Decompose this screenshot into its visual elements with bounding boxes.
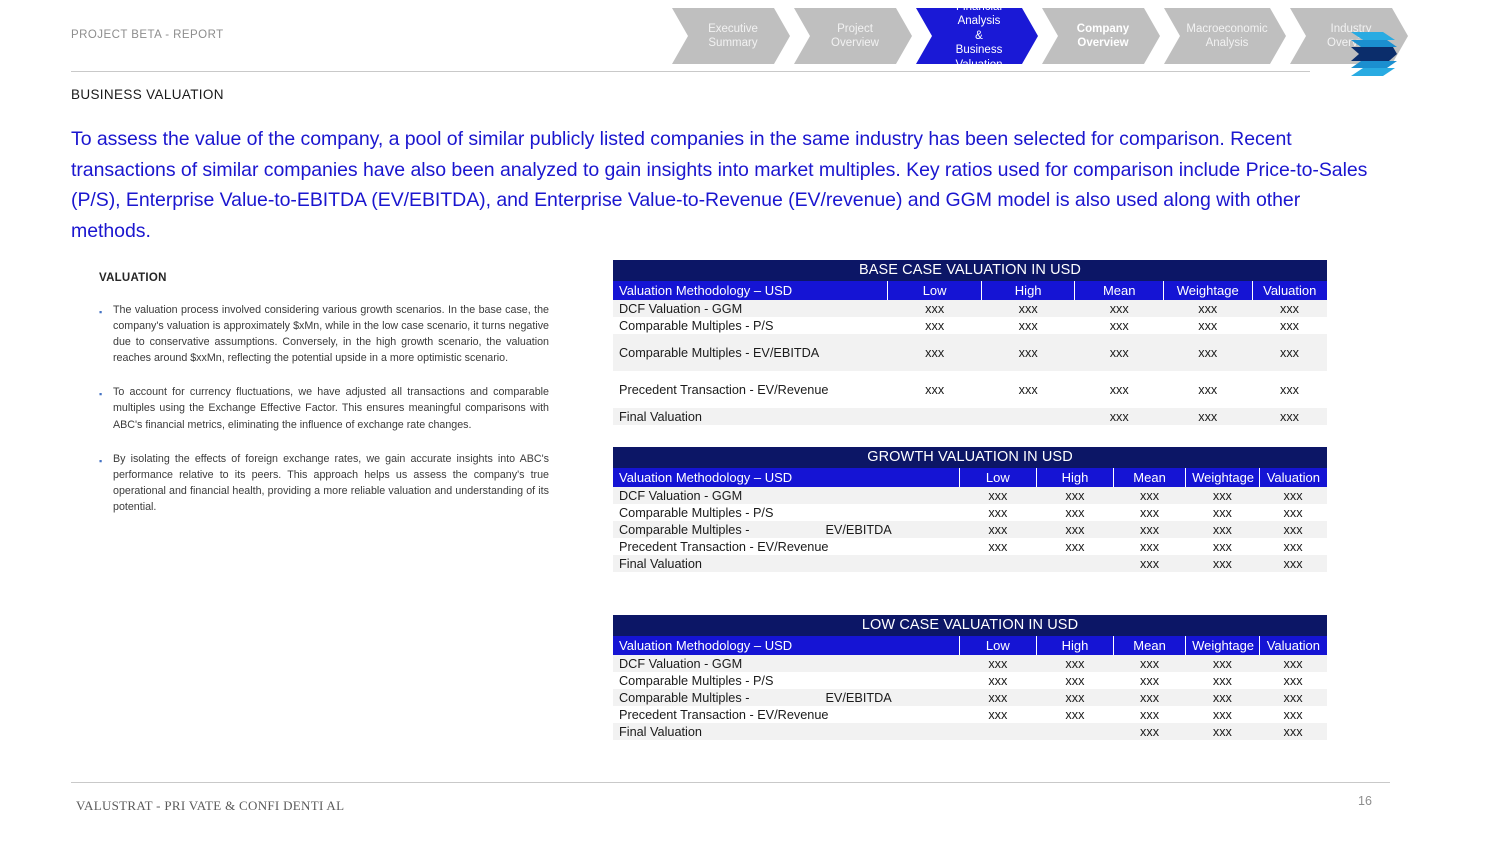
- cell-value-2: xxx: [1114, 706, 1186, 723]
- cell-value-4: xxx: [1259, 672, 1327, 689]
- cell-value-0: xxx: [959, 521, 1036, 538]
- column-header-2: High: [1036, 468, 1113, 487]
- bullet-text: To account for currency fluctuations, we…: [113, 384, 549, 432]
- cell-method: Final Valuation: [613, 723, 959, 740]
- nav-chevron-label: Company Overview: [1077, 22, 1129, 51]
- header-divider: [71, 71, 1310, 72]
- table-row: Comparable Multiples - P/Sxxxxxxxxxxxxxx…: [613, 317, 1327, 334]
- cell-value-2: xxx: [1114, 672, 1186, 689]
- cell-value-1: xxx: [1036, 689, 1113, 706]
- cell-value-3: xxx: [1163, 317, 1252, 334]
- nav-chevron-2[interactable]: Financial Analysis & Business Valuation: [916, 8, 1038, 64]
- table-title: LOW CASE VALUATION IN USD: [613, 615, 1327, 636]
- column-header-5: Valuation: [1259, 468, 1327, 487]
- nav-chevron-0[interactable]: Executive Summary: [672, 8, 790, 64]
- bullet-dot-icon: ▪: [99, 384, 113, 432]
- cell-value-2: xxx: [1114, 504, 1186, 521]
- cell-value-2: xxx: [1114, 521, 1186, 538]
- cell-value-0: xxx: [959, 487, 1036, 504]
- cell-method: Comparable Multiples - P/S: [613, 672, 959, 689]
- cell-value-1: xxx: [1036, 672, 1113, 689]
- cell-value-2: xxx: [1114, 689, 1186, 706]
- column-header-1: Low: [959, 636, 1036, 655]
- page-title: BUSINESS VALUATION: [71, 87, 224, 102]
- cell-value-0: [959, 723, 1036, 740]
- valuation-table-1: GROWTH VALUATION IN USDValuation Methodo…: [613, 447, 1327, 572]
- column-header-2: High: [981, 281, 1075, 300]
- table-row: Precedent Transaction - EV/Revenuexxxxxx…: [613, 371, 1327, 408]
- cell-value-4: xxx: [1259, 487, 1327, 504]
- table-row: DCF Valuation - GGMxxxxxxxxxxxxxxx: [613, 655, 1327, 672]
- cell-value-0: [959, 555, 1036, 572]
- cell-value-4: xxx: [1259, 521, 1327, 538]
- cell-method: Final Valuation: [613, 408, 888, 425]
- cell-value-3: xxx: [1163, 300, 1252, 317]
- cell-value-4: xxx: [1259, 689, 1327, 706]
- cell-value-3: xxx: [1186, 655, 1260, 672]
- column-header-0: Valuation Methodology – USD: [613, 636, 959, 655]
- table-title: BASE CASE VALUATION IN USD: [613, 260, 1327, 281]
- bullet-item: ▪To account for currency fluctuations, w…: [99, 384, 549, 432]
- nav-chevron-label: Executive Summary: [708, 22, 758, 51]
- column-header-1: Low: [888, 281, 982, 300]
- cell-value-4: xxx: [1252, 408, 1327, 425]
- table-row: Final Valuationxxxxxxxxx: [613, 555, 1327, 572]
- page-number: 16: [1358, 794, 1372, 808]
- cell-value-2: xxx: [1114, 655, 1186, 672]
- cell-value-4: xxx: [1259, 723, 1327, 740]
- method-label-part1: Comparable Multiples -: [619, 523, 749, 537]
- cell-value-3: xxx: [1186, 672, 1260, 689]
- cell-value-4: xxx: [1259, 555, 1327, 572]
- method-label-part2: EV/EBITDA: [825, 523, 891, 537]
- cell-value-4: xxx: [1252, 334, 1327, 371]
- cell-value-0: xxx: [959, 538, 1036, 555]
- column-header-0: Valuation Methodology – USD: [613, 281, 888, 300]
- cell-value-4: xxx: [1252, 371, 1327, 408]
- method-label-part1: Comparable Multiples -: [619, 691, 749, 705]
- cell-method: Comparable Multiples - P/S: [613, 504, 959, 521]
- bullet-text: By isolating the effects of foreign exch…: [113, 451, 549, 515]
- cell-method: DCF Valuation - GGM: [613, 300, 888, 317]
- cell-value-4: xxx: [1259, 706, 1327, 723]
- cell-value-1: xxx: [1036, 706, 1113, 723]
- column-header-4: Weightage: [1186, 636, 1260, 655]
- cell-value-0: xxx: [959, 655, 1036, 672]
- cell-value-2: xxx: [1075, 371, 1164, 408]
- cell-value-3: xxx: [1186, 504, 1260, 521]
- cell-value-3: xxx: [1186, 555, 1260, 572]
- cell-value-2: xxx: [1114, 538, 1186, 555]
- table-title: GROWTH VALUATION IN USD: [613, 447, 1327, 468]
- column-header-5: Valuation: [1259, 636, 1327, 655]
- cell-value-0: xxx: [888, 300, 982, 317]
- column-header-1: Low: [959, 468, 1036, 487]
- table-row: Final Valuationxxxxxxxxx: [613, 723, 1327, 740]
- cell-value-1: xxx: [1036, 504, 1113, 521]
- cell-value-0: xxx: [959, 706, 1036, 723]
- cell-method: Precedent Transaction - EV/Revenue: [613, 371, 888, 408]
- cell-value-1: [1036, 555, 1113, 572]
- cell-value-4: xxx: [1259, 538, 1327, 555]
- cell-value-2: xxx: [1075, 300, 1164, 317]
- nav-chevron-label: Financial Analysis & Business Valuation: [934, 0, 1024, 72]
- cell-value-2: xxx: [1114, 555, 1186, 572]
- slide-header: PROJECT BETA - REPORT BUSINESS VALUATION…: [0, 0, 1500, 110]
- table-row: Comparable Multiples - EV/EBITDAxxxxxxxx…: [613, 334, 1327, 371]
- bullet-list: ▪The valuation process involved consider…: [99, 302, 549, 515]
- valuation-commentary: VALUATION ▪The valuation process involve…: [99, 272, 549, 533]
- table-row: Precedent Transaction - EV/Revenuexxxxxx…: [613, 538, 1327, 555]
- cell-value-2: xxx: [1114, 487, 1186, 504]
- table: Valuation Methodology – USDLowHighMeanWe…: [613, 281, 1327, 425]
- cell-value-1: xxx: [1036, 521, 1113, 538]
- footer-divider: [71, 782, 1390, 783]
- column-header-3: Mean: [1114, 636, 1186, 655]
- column-header-4: Weightage: [1163, 281, 1252, 300]
- valuation-heading: VALUATION: [99, 272, 549, 284]
- valustrat-logo-icon: [1349, 30, 1399, 78]
- table-row: Precedent Transaction - EV/Revenuexxxxxx…: [613, 706, 1327, 723]
- cell-value-2: xxx: [1075, 334, 1164, 371]
- bullet-dot-icon: ▪: [99, 451, 113, 515]
- cell-method: Comparable Multiples - P/S: [613, 317, 888, 334]
- cell-value-1: [981, 408, 1075, 425]
- column-header-3: Mean: [1075, 281, 1164, 300]
- cell-value-3: xxx: [1186, 521, 1260, 538]
- cell-value-4: xxx: [1259, 504, 1327, 521]
- cell-value-3: xxx: [1186, 689, 1260, 706]
- cell-method: Comparable Multiples - EV/EBITDA: [613, 521, 959, 538]
- cell-value-3: xxx: [1186, 487, 1260, 504]
- table-header-row: Valuation Methodology – USDLowHighMeanWe…: [613, 468, 1327, 487]
- valuation-table-0: BASE CASE VALUATION IN USDValuation Meth…: [613, 260, 1327, 425]
- column-header-4: Weightage: [1186, 468, 1260, 487]
- cell-value-3: xxx: [1186, 706, 1260, 723]
- bullet-dot-icon: ▪: [99, 302, 113, 366]
- cell-value-0: xxx: [959, 689, 1036, 706]
- cell-value-1: xxx: [1036, 487, 1113, 504]
- cell-value-3: xxx: [1163, 334, 1252, 371]
- cell-method: DCF Valuation - GGM: [613, 655, 959, 672]
- column-header-3: Mean: [1114, 468, 1186, 487]
- cell-value-1: xxx: [1036, 538, 1113, 555]
- nav-chevron-1[interactable]: Project Overview: [794, 8, 912, 64]
- cell-value-1: xxx: [981, 300, 1075, 317]
- table-header-row: Valuation Methodology – USDLowHighMeanWe…: [613, 281, 1327, 300]
- cell-value-0: xxx: [888, 334, 982, 371]
- cell-value-1: [1036, 723, 1113, 740]
- document-kicker: PROJECT BETA - REPORT: [71, 29, 224, 41]
- cell-method: DCF Valuation - GGM: [613, 487, 959, 504]
- nav-chevron-3[interactable]: Company Overview: [1042, 8, 1160, 64]
- column-header-2: High: [1036, 636, 1113, 655]
- bullet-item: ▪The valuation process involved consider…: [99, 302, 549, 366]
- table-row: DCF Valuation - GGMxxxxxxxxxxxxxxx: [613, 487, 1327, 504]
- cell-value-2: xxx: [1075, 317, 1164, 334]
- cell-value-3: xxx: [1163, 371, 1252, 408]
- cell-value-3: xxx: [1186, 538, 1260, 555]
- cell-value-0: xxx: [959, 504, 1036, 521]
- table: Valuation Methodology – USDLowHighMeanWe…: [613, 468, 1327, 572]
- cell-method: Precedent Transaction - EV/Revenue: [613, 538, 959, 555]
- valuation-table-2: LOW CASE VALUATION IN USDValuation Metho…: [613, 615, 1327, 740]
- cell-method: Comparable Multiples - EV/EBITDA: [613, 689, 959, 706]
- cell-value-4: xxx: [1259, 655, 1327, 672]
- bullet-item: ▪By isolating the effects of foreign exc…: [99, 451, 549, 515]
- cell-value-2: xxx: [1075, 408, 1164, 425]
- table-header-row: Valuation Methodology – USDLowHighMeanWe…: [613, 636, 1327, 655]
- table: Valuation Methodology – USDLowHighMeanWe…: [613, 636, 1327, 740]
- table-row: Comparable Multiples - EV/EBITDAxxxxxxxx…: [613, 521, 1327, 538]
- cell-value-3: xxx: [1163, 408, 1252, 425]
- table-row: Comparable Multiples - EV/EBITDAxxxxxxxx…: [613, 689, 1327, 706]
- cell-value-4: xxx: [1252, 300, 1327, 317]
- cell-value-1: xxx: [981, 317, 1075, 334]
- nav-chevron-label: Macroeconomic Analysis: [1186, 22, 1267, 51]
- cell-value-0: xxx: [888, 371, 982, 408]
- section-chevron-nav: Executive SummaryProject OverviewFinanci…: [672, 8, 1412, 64]
- table-row: Comparable Multiples - P/Sxxxxxxxxxxxxxx…: [613, 672, 1327, 689]
- table-row: Final Valuationxxxxxxxxx: [613, 408, 1327, 425]
- column-header-0: Valuation Methodology – USD: [613, 468, 959, 487]
- cell-value-0: [888, 408, 982, 425]
- cell-value-1: xxx: [981, 371, 1075, 408]
- cell-value-0: xxx: [888, 317, 982, 334]
- nav-chevron-label: Project Overview: [831, 22, 879, 51]
- cell-value-0: xxx: [959, 672, 1036, 689]
- lead-paragraph: To assess the value of the company, a po…: [71, 124, 1371, 246]
- cell-method: Final Valuation: [613, 555, 959, 572]
- bullet-text: The valuation process involved consideri…: [113, 302, 549, 366]
- cell-method: Comparable Multiples - EV/EBITDA: [613, 334, 888, 371]
- cell-method: Precedent Transaction - EV/Revenue: [613, 706, 959, 723]
- table-row: Comparable Multiples - P/Sxxxxxxxxxxxxxx…: [613, 504, 1327, 521]
- cell-value-1: xxx: [981, 334, 1075, 371]
- cell-value-1: xxx: [1036, 655, 1113, 672]
- nav-chevron-4[interactable]: Macroeconomic Analysis: [1164, 8, 1286, 64]
- table-row: DCF Valuation - GGMxxxxxxxxxxxxxxx: [613, 300, 1327, 317]
- cell-value-4: xxx: [1252, 317, 1327, 334]
- cell-value-3: xxx: [1186, 723, 1260, 740]
- method-label-part2: EV/EBITDA: [825, 691, 891, 705]
- column-header-5: Valuation: [1252, 281, 1327, 300]
- cell-value-2: xxx: [1114, 723, 1186, 740]
- confidentiality-notice: VALUSTRAT - PRI VATE & CONFI DENTI AL: [76, 798, 344, 814]
